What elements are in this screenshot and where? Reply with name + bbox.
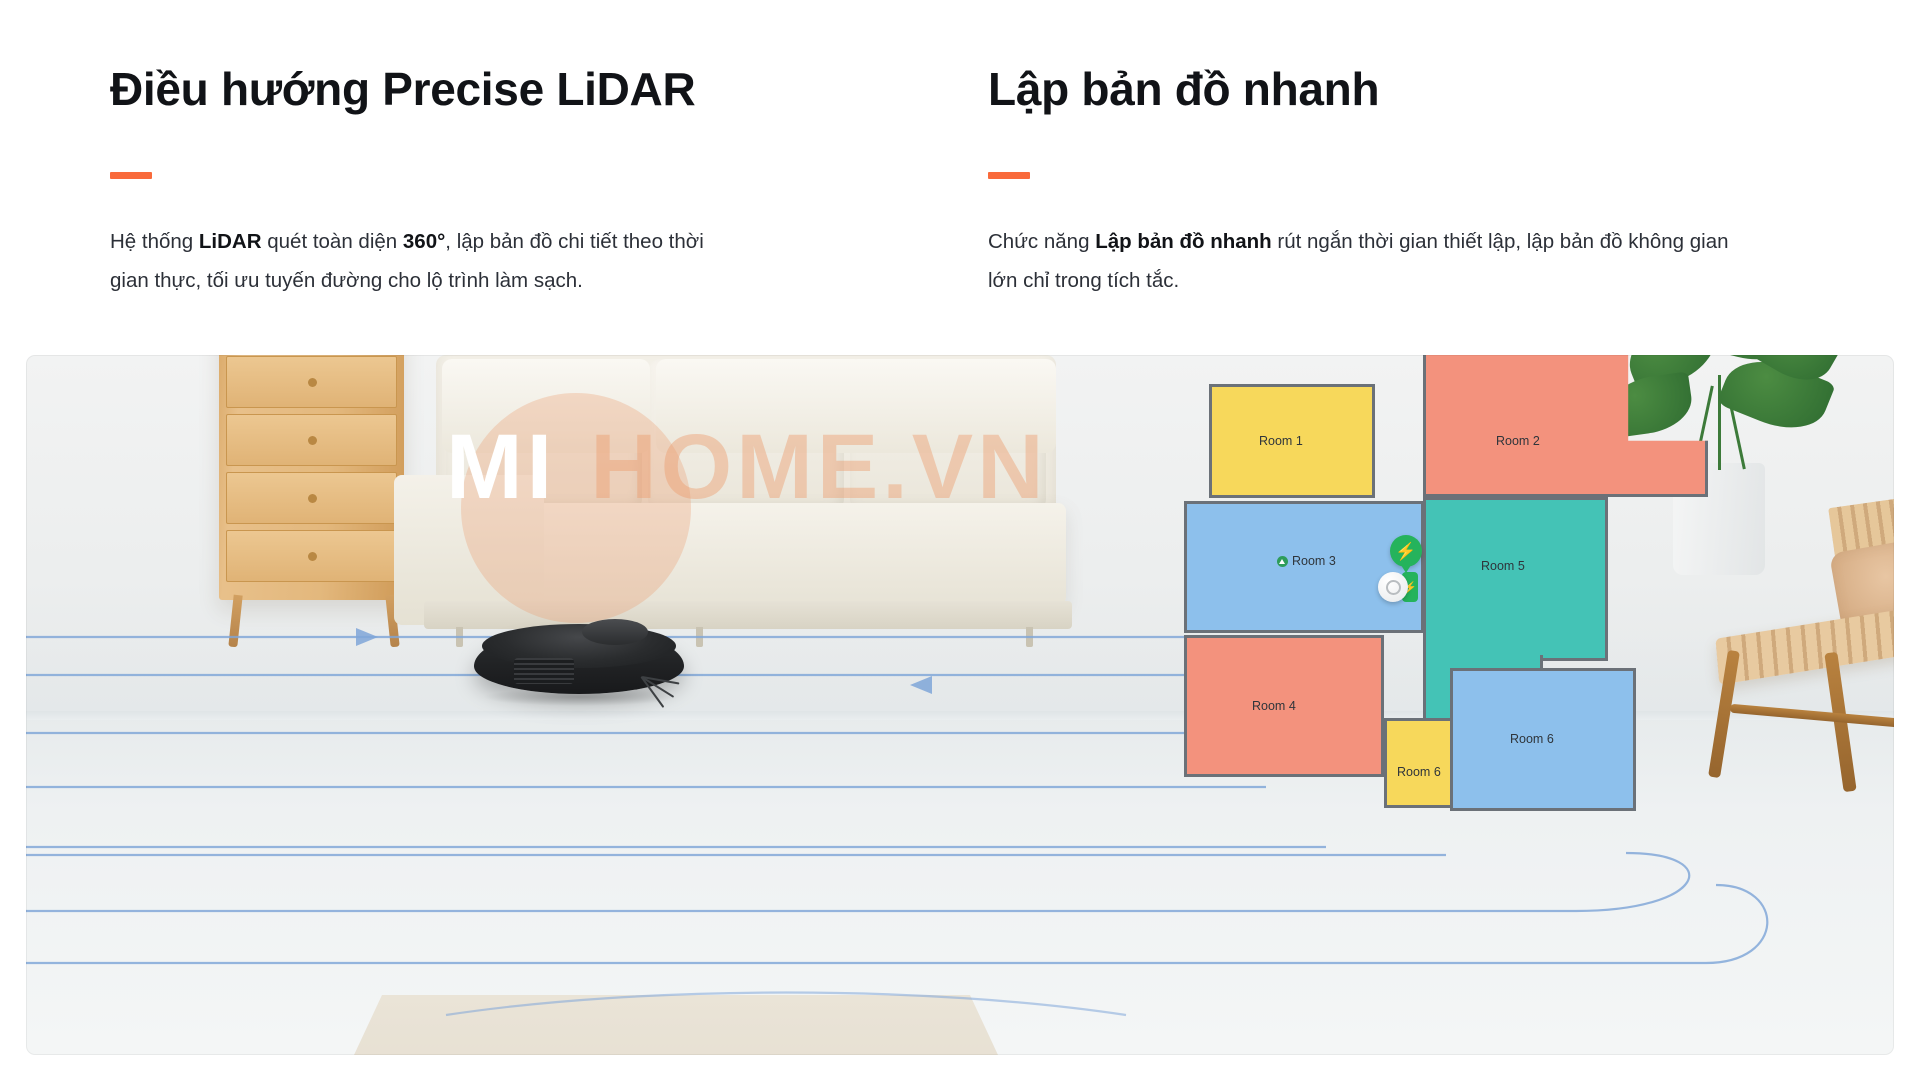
feature-body-lidar: Hệ thống LiDAR quét toàn diện 360°, lập … <box>110 222 710 300</box>
feature-title-lidar: Điều hướng Precise LiDAR <box>110 62 695 116</box>
feature-title-mapping: Lập bản đồ nhanh <box>988 62 1379 116</box>
map-room-label-room-3: Room 3 <box>1277 554 1336 568</box>
charging-dock-icon[interactable]: ⚡ <box>1390 535 1422 567</box>
room-label-text: Room 1 <box>1259 434 1303 448</box>
map-room-label-room-6-yellow: Room 6 <box>1397 765 1441 779</box>
map-room-label-room-6-blue: Room 6 <box>1510 732 1554 746</box>
text-run-bold: Lập bản đồ nhanh <box>1095 230 1272 253</box>
feature-column-lidar: Điều hướng Precise LiDAR Hệ thống LiDAR … <box>0 0 940 355</box>
feature-body-mapping: Chức năng Lập bản đồ nhanh rút ngắn thời… <box>988 222 1733 300</box>
room-label-text: Room 2 <box>1496 434 1540 448</box>
lightning-bolt-icon: ⚡ <box>1395 543 1416 560</box>
room-map-overlay[interactable]: Room 2 Room 1 Room 5 Room 3 Room 4 Room … <box>26 355 1894 1055</box>
accent-rule-mapping <box>988 172 1030 179</box>
robot-position-marker[interactable] <box>1378 572 1408 602</box>
map-room-room-6-yellow[interactable] <box>1384 718 1459 808</box>
accent-rule-lidar <box>110 172 152 179</box>
map-room-label-room-4: Room 4 <box>1252 699 1296 713</box>
map-room-label-room-5: Room 5 <box>1481 559 1525 573</box>
room-label-text: Room 6 <box>1397 765 1441 779</box>
text-run-bold: 360° <box>403 230 445 253</box>
home-icon <box>1277 556 1288 567</box>
text-run: Hệ thống <box>110 230 199 253</box>
room-label-text: Room 6 <box>1510 732 1554 746</box>
feature-column-mapping: Lập bản đồ nhanh Chức năng Lập bản đồ nh… <box>940 0 1919 355</box>
room-label-text: Room 4 <box>1252 699 1296 713</box>
scene-panel: MI HOME.VN Room 2 Room 1 Room 5 Room 3 <box>26 355 1894 1055</box>
room-label-text: Room 5 <box>1481 559 1525 573</box>
map-room-room-5[interactable] <box>1423 497 1608 661</box>
text-run: quét toàn diện <box>262 230 403 253</box>
map-room-room-2-wing[interactable] <box>1423 355 1708 497</box>
feature-columns: Điều hướng Precise LiDAR Hệ thống LiDAR … <box>0 0 1919 355</box>
map-room-label-room-2: Room 2 <box>1496 434 1540 448</box>
room-label-text: Room 3 <box>1292 554 1336 568</box>
text-run-bold: LiDAR <box>199 230 262 253</box>
text-run: Chức năng <box>988 230 1095 253</box>
map-room-label-room-1: Room 1 <box>1259 434 1303 448</box>
